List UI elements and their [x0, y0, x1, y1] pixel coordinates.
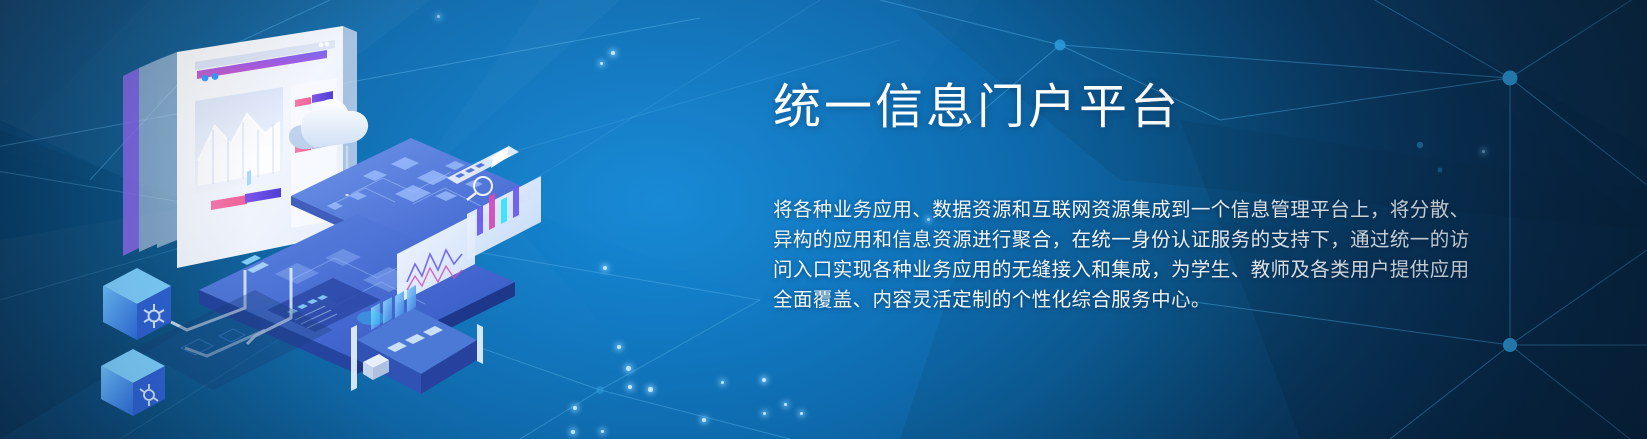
description-line: 异构的应用和信息资源进行聚合，在统一身份认证服务的支持下，通过统一的访	[773, 225, 1473, 255]
description-line: 全面覆盖、内容灵活定制的个性化综合服务中心。	[773, 285, 1473, 315]
cube-icon-lower	[101, 349, 165, 416]
description-line: 问入口实现各种业务应用的无缝接入和集成，为学生、教师及各类用户提供应用	[773, 255, 1473, 285]
hero-banner: 统一信息门户平台 将各种业务应用、数据资源和互联网资源集成到一个信息管理平台上，…	[0, 0, 1647, 439]
browser-back-layers	[123, 52, 177, 256]
page-title: 统一信息门户平台	[773, 80, 1473, 136]
banner-copy: 统一信息门户平台 将各种业务应用、数据资源和互联网资源集成到一个信息管理平台上，…	[773, 80, 1473, 315]
isometric-illustration	[95, 18, 565, 428]
banner-description: 将各种业务应用、数据资源和互联网资源集成到一个信息管理平台上，将分散、 异构的应…	[773, 136, 1473, 315]
description-line: 将各种业务应用、数据资源和互联网资源集成到一个信息管理平台上，将分散、	[773, 195, 1473, 225]
cube-icon-upper	[103, 268, 171, 340]
